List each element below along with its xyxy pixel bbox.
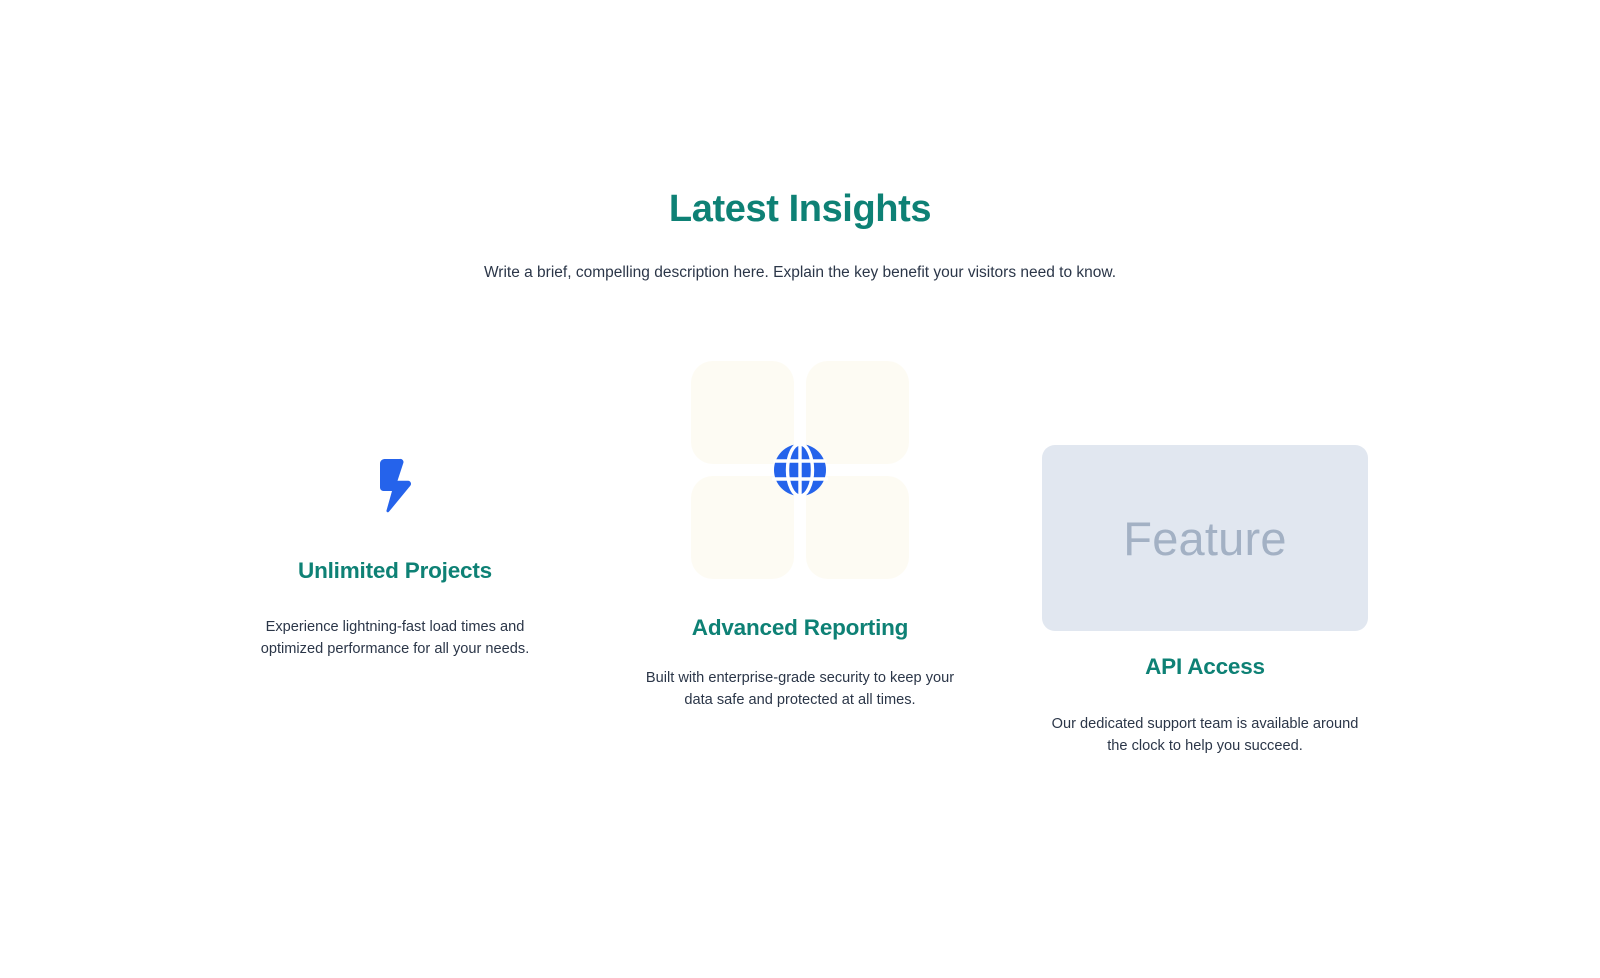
lightning-bolt-icon [372, 457, 418, 515]
feature-card-advanced-reporting: Advanced Reporting Built with enterprise… [598, 350, 1003, 711]
feature-description: Experience lightning-fast load times and… [245, 617, 545, 660]
section-subtitle: Write a brief, compelling description he… [0, 262, 1600, 284]
feature-title: Unlimited Projects [205, 557, 586, 585]
section-header: Latest Insights Write a brief, compellin… [0, 186, 1600, 284]
feature-grid: Unlimited Projects Experience lightning-… [0, 350, 1600, 757]
feature-title: Advanced Reporting [610, 614, 991, 642]
feature-card-api-access: Feature API Access Our dedicated support… [1003, 350, 1408, 757]
feature-icon-wrap [610, 350, 991, 590]
placeholder-label: Feature [1123, 515, 1286, 562]
landing-page-section: Latest Insights Write a brief, compellin… [0, 0, 1600, 978]
feature-description: Our dedicated support team is available … [1040, 714, 1370, 757]
page-title: Latest Insights [0, 186, 1600, 232]
feature-icon-wrap [205, 438, 586, 534]
feature-card-unlimited-projects: Unlimited Projects Experience lightning-… [193, 350, 598, 660]
feature-image-placeholder: Feature [1042, 445, 1368, 631]
feature-description: Built with enterprise-grade security to … [635, 668, 965, 711]
globe-icon [772, 442, 828, 498]
feature-title: API Access [1015, 653, 1396, 681]
